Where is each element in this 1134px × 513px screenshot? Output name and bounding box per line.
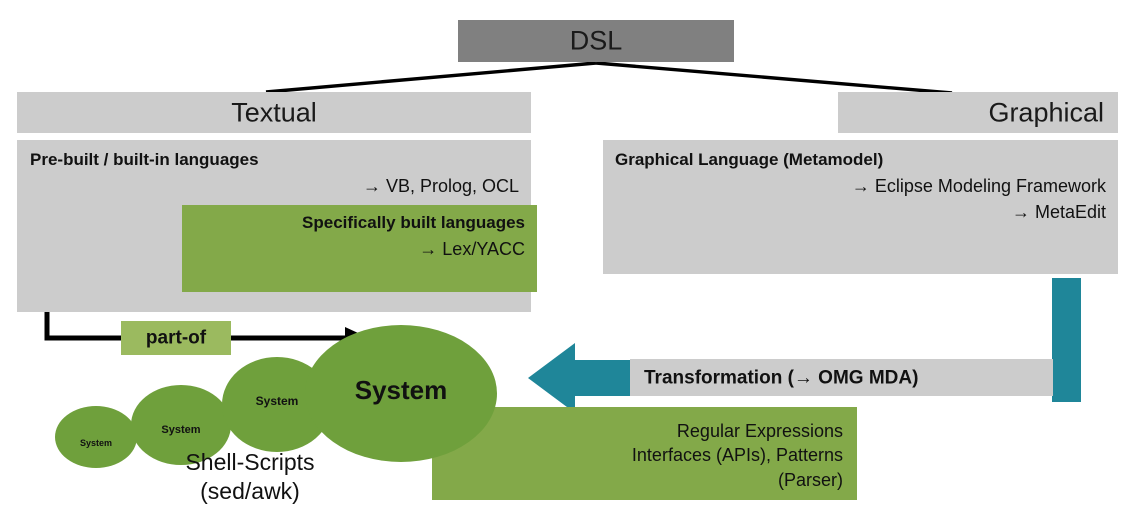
- system-circle-1-label: System: [55, 439, 137, 448]
- specific-languages-examples: → Lex/YACC: [182, 239, 525, 260]
- techniques-box: Regular Expressions Interfaces (APIs), P…: [432, 407, 857, 500]
- edge-dsl-to-graphical: [596, 63, 952, 93]
- graphical-branch-header: Graphical: [838, 92, 1118, 133]
- shell-scripts-caption-line-1: Shell-Scripts: [120, 448, 380, 477]
- edge-dsl-to-textual: [266, 63, 596, 92]
- textual-branch-header-label: Textual: [17, 99, 531, 126]
- shell-scripts-caption-line-2: (sed/awk): [120, 477, 380, 506]
- techniques-text: Regular Expressions Interfaces (APIs), P…: [442, 419, 843, 492]
- part-of-label: part-of: [121, 329, 231, 348]
- transformation-box: Transformation (→ OMG MDA): [630, 359, 1053, 396]
- part-of-label-box: part-of: [121, 321, 231, 355]
- system-circle-4-label: System: [305, 377, 497, 403]
- transformation-label: Transformation (→ OMG MDA): [644, 368, 1043, 387]
- dsl-root-box: DSL: [458, 20, 734, 62]
- diagram-canvas: DSL Textual Pre-built / built-in languag…: [0, 0, 1134, 513]
- specific-languages-box: Specifically built languages → Lex/YACC: [182, 205, 537, 292]
- graphical-language-title: Graphical Language (Metamodel): [615, 150, 883, 170]
- specific-languages-title: Specifically built languages: [182, 213, 525, 233]
- graphical-panel: Graphical Language (Metamodel) → Eclipse…: [603, 140, 1118, 274]
- techniques-line-2: Interfaces (APIs), Patterns: [442, 443, 843, 467]
- prebuilt-languages-title: Pre-built / built-in languages: [30, 150, 259, 170]
- system-circle-2-label: System: [131, 425, 231, 436]
- transformation-arrow-icon: [528, 343, 640, 413]
- graphical-branch-header-label: Graphical: [838, 99, 1104, 126]
- graphical-language-example-2: → MetaEdit: [603, 202, 1106, 223]
- techniques-line-1: Regular Expressions: [442, 419, 843, 443]
- shell-scripts-caption: Shell-Scripts (sed/awk): [120, 448, 380, 506]
- dsl-root-label: DSL: [458, 28, 734, 55]
- transformation-connector-bar: [1052, 278, 1081, 402]
- textual-branch-header: Textual: [17, 92, 531, 133]
- textual-panel: Pre-built / built-in languages → VB, Pro…: [17, 140, 531, 312]
- prebuilt-languages-examples: → VB, Prolog, OCL: [17, 176, 519, 197]
- system-circle-4: System: [305, 325, 497, 462]
- graphical-language-example-1: → Eclipse Modeling Framework: [603, 176, 1106, 197]
- techniques-line-3: (Parser): [442, 468, 843, 492]
